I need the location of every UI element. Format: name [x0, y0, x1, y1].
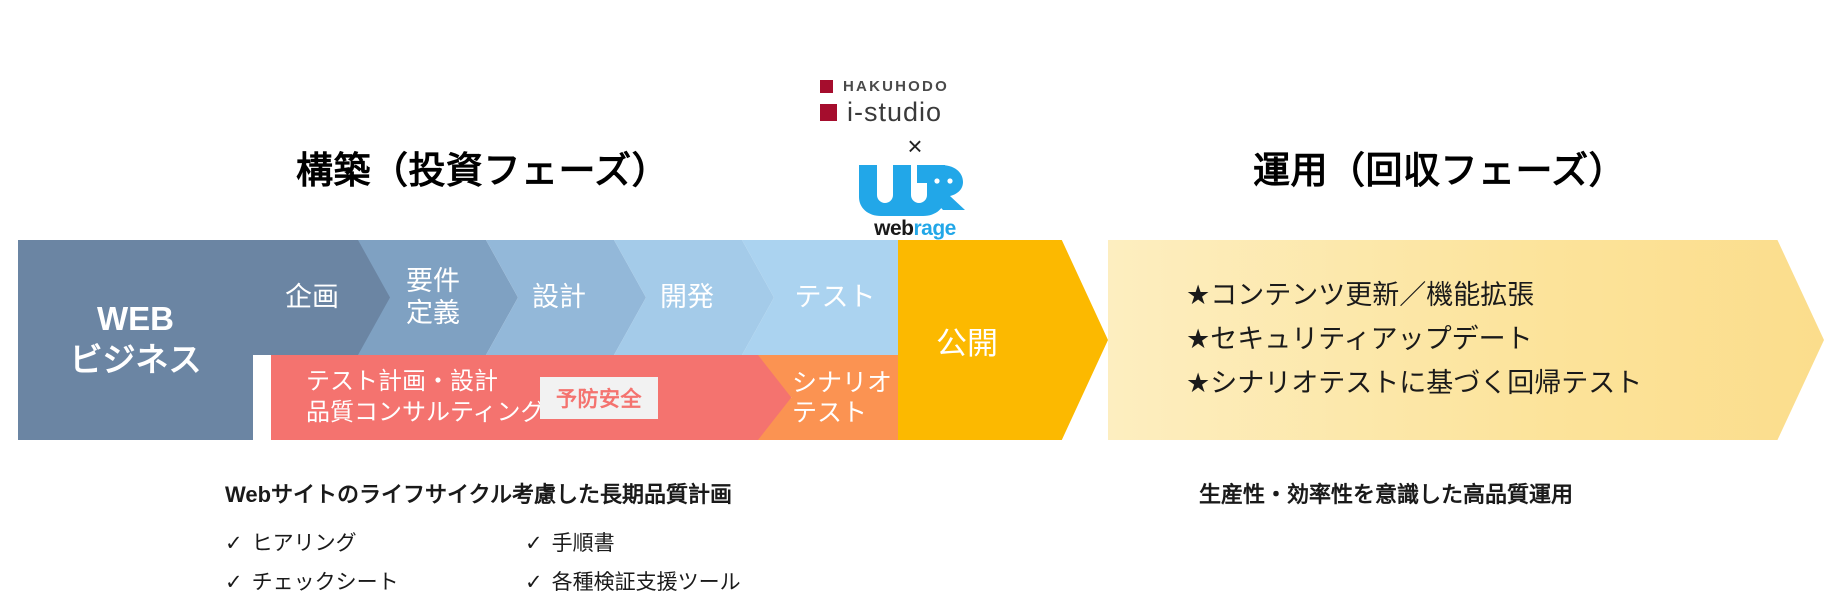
check-item: ✓各種検証支援ツール	[525, 564, 741, 603]
hakuhodo-square-icon	[820, 80, 833, 93]
hakuhodo-row: HAKUHODO	[820, 78, 1010, 95]
web-business-line1: WEB	[97, 299, 174, 340]
scenario-test-line2: テスト	[792, 398, 892, 428]
check-item: ✓ヒアリング	[225, 525, 399, 564]
heading-build-phase: 構築（投資フェーズ）	[296, 140, 669, 194]
check-icon: ✓	[225, 571, 243, 594]
check-item: ✓手順書	[525, 525, 741, 564]
check-icon: ✓	[225, 532, 243, 555]
istudio-square-icon	[820, 104, 837, 121]
webrage-logo: webrage	[820, 161, 1010, 239]
webrage-mark-icon	[855, 161, 975, 217]
step-kikaku-label: 企画	[253, 282, 393, 313]
webrage-wordmark: webrage	[820, 218, 1010, 239]
check-item: ✓チェックシート	[225, 564, 399, 603]
step-teigi-line2: 定義	[370, 298, 496, 329]
heading-operate-phase: 運用（回収フェーズ）	[1253, 140, 1626, 194]
caption-left-title: Webサイトのライフサイクル考慮した長期品質計画	[225, 477, 732, 509]
multiply-icon: ×	[820, 133, 1010, 159]
check-item-label: ヒアリング	[252, 532, 357, 555]
istudio-row: i-studio	[820, 99, 1010, 126]
operate-item-3: ★シナリオテストに基づく回帰テスト	[1186, 362, 1824, 406]
step-youken-line1: 要件	[370, 266, 496, 297]
check-icon: ✓	[525, 571, 543, 594]
web-business-block: WEB ビジネス	[18, 240, 253, 440]
check-item-label: 各種検証支援ツール	[552, 571, 741, 594]
operate-phase-band: ★コンテンツ更新／機能拡張 ★セキュリティアップデート ★シナリオテストに基づく…	[1108, 240, 1824, 440]
istudio-label: i-studio	[847, 99, 942, 126]
partner-logo-block: HAKUHODO i-studio × webrage	[820, 78, 1010, 239]
publish-label: 公開	[898, 318, 998, 363]
check-item-label: 手順書	[552, 532, 615, 555]
check-icon: ✓	[525, 532, 543, 555]
check-item-label: チェックシート	[252, 571, 399, 594]
checklist-column-1: ✓ヒアリング ✓チェックシート	[225, 525, 399, 603]
publish-block: 公開	[898, 240, 1108, 440]
hakuhodo-label: HAKUHODO	[843, 78, 949, 95]
quality-consulting-text: テスト計画・設計 品質コンサルティング	[271, 367, 545, 428]
scenario-test-line1: シナリオ	[792, 368, 892, 398]
caption-right-title: 生産性・効率性を意識した高品質運用	[1199, 477, 1573, 509]
web-business-line2: ビジネス	[70, 340, 202, 381]
process-flow-diagram: WEB ビジネス 企画 要件 定義 設計 開発 テスト テスト計画・設計 品質コ…	[18, 240, 1824, 440]
prevention-safety-badge: 予防安全	[540, 377, 658, 419]
checklist-column-2: ✓手順書 ✓各種検証支援ツール	[525, 525, 741, 603]
operate-item-2: ★セキュリティアップデート	[1186, 318, 1824, 362]
quality-consulting-band: テスト計画・設計 品質コンサルティング	[271, 355, 791, 440]
quality-consulting-line2: 品質コンサルティング	[306, 398, 545, 429]
operate-item-1: ★コンテンツ更新／機能拡張	[1186, 274, 1824, 318]
webrage-word-dark: web	[874, 217, 913, 240]
quality-consulting-line1: テスト計画・設計	[306, 367, 545, 398]
webrage-word-blue: rage	[913, 217, 955, 240]
